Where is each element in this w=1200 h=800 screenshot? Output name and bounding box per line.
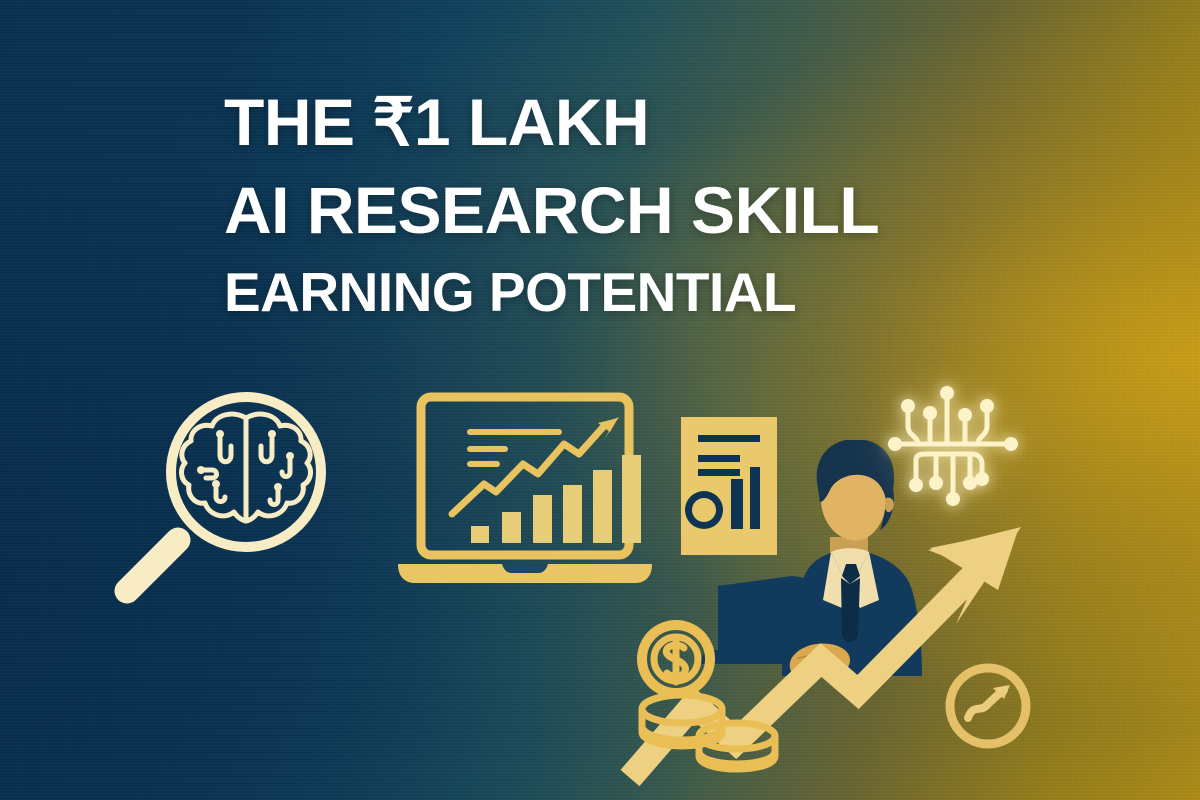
headline-block: THE ₹1 LAKH AI RESEARCH SKILL EARNING PO… [224,84,1054,324]
trend-badge-icon [938,656,1038,756]
money-coins-icon [622,618,792,782]
circuit-network-icon [886,382,1022,512]
headline-line-1: THE ₹1 LAKH [224,84,1054,160]
magnifying-glass-brain-icon [100,360,370,620]
poster-canvas: THE ₹1 LAKH AI RESEARCH SKILL EARNING PO… [0,0,1200,800]
headline-line-3: EARNING POTENTIAL [224,260,1054,324]
headline-line-2: AI RESEARCH SKILL [224,172,1054,248]
